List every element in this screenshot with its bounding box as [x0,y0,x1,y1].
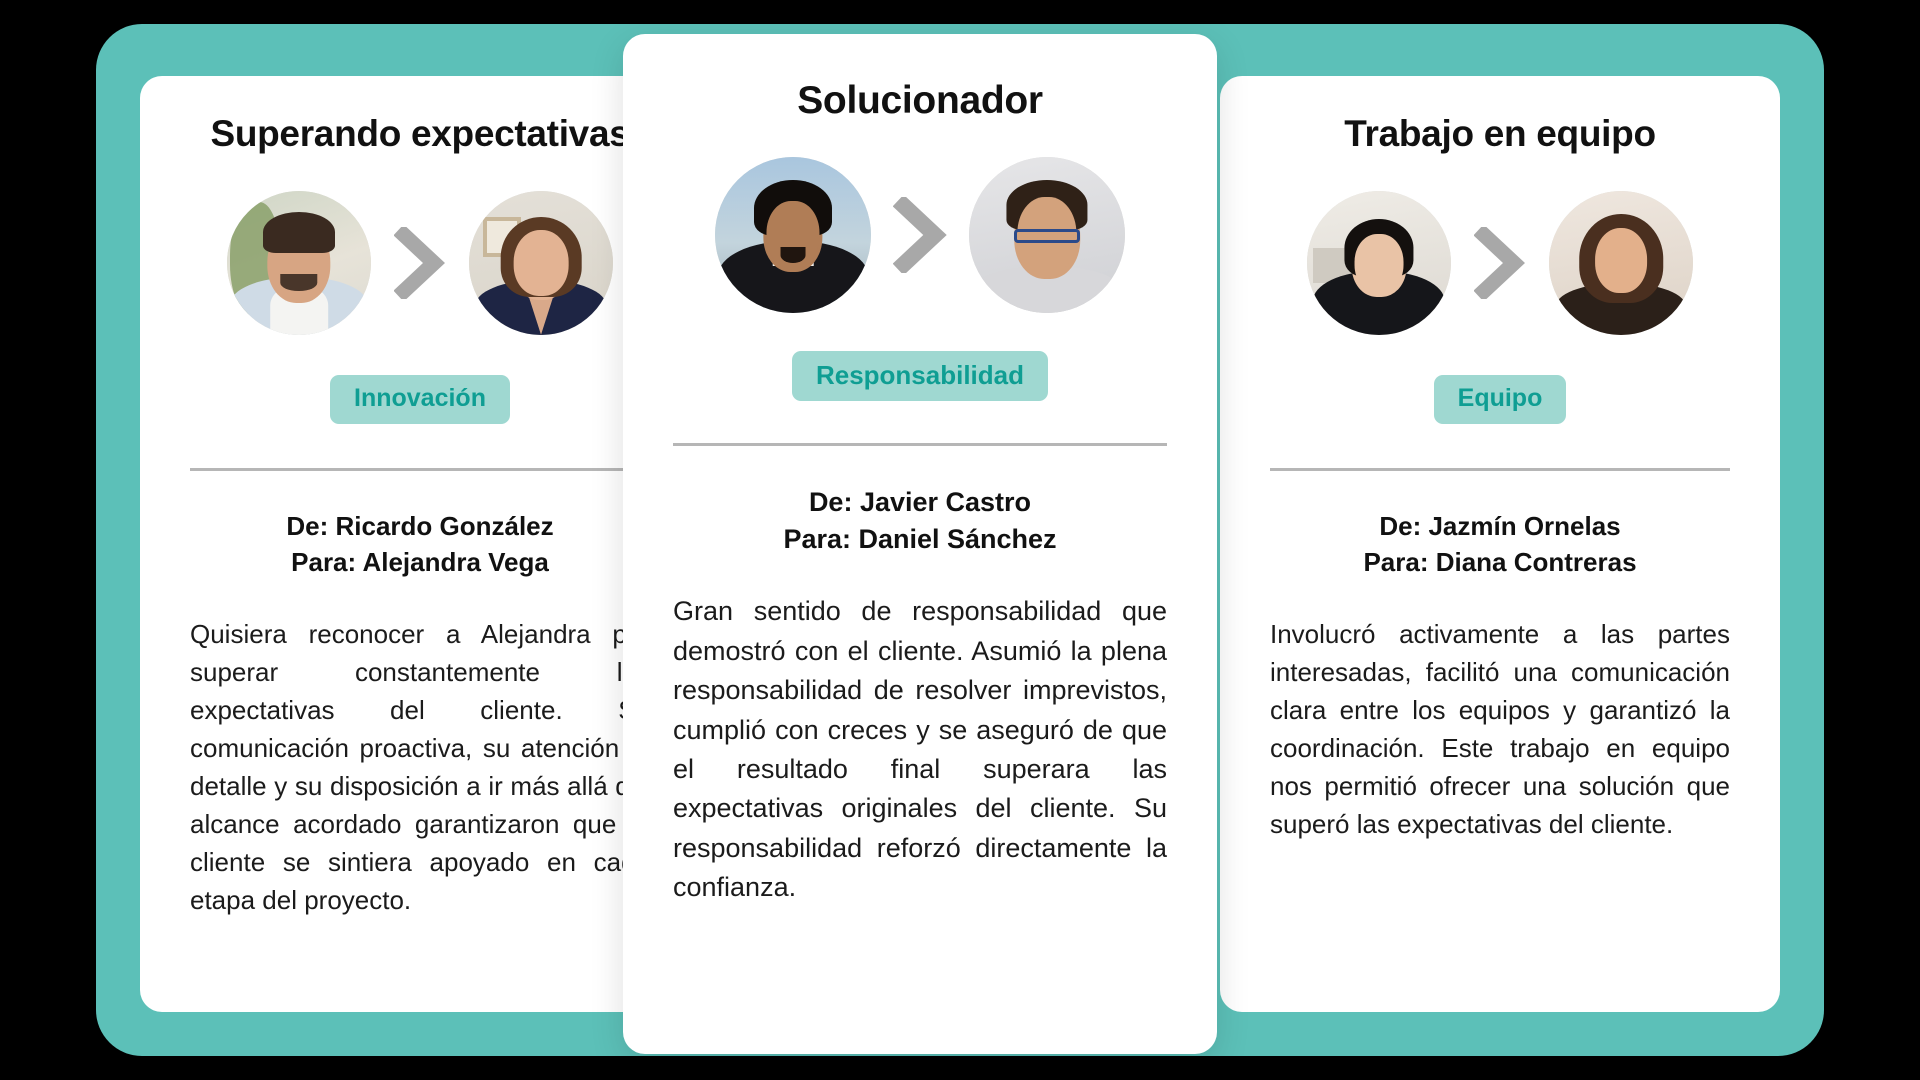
participants: De: Ricardo González Para: Alejandra Veg… [286,509,553,581]
recipient-name: Para: Daniel Sánchez [783,521,1056,558]
sender-avatar [227,191,371,335]
recognition-card-right[interactable]: Trabajo en equipo [1220,76,1780,1012]
value-badge[interactable]: Innovación [330,375,510,424]
recipient-avatar [469,191,613,335]
recognition-message: Involucró activamente a las partes inter… [1270,616,1730,844]
card-divider [190,468,650,471]
sender-name: De: Ricardo González [286,509,553,545]
chevron-right-icon [1473,225,1527,301]
recognition-message: Quisiera reconocer a Alejandra por super… [190,616,650,920]
recognition-card-left[interactable]: Superando expectativas [140,76,700,1012]
card-title: Superando expectativas [210,114,629,155]
recipient-name: Para: Alejandra Vega [286,545,553,581]
avatar-pair [1307,191,1693,335]
chevron-right-icon [393,225,447,301]
recipient-avatar [1549,191,1693,335]
recognition-message: Gran sentido de responsabilidad que demo… [673,592,1167,907]
card-title: Solucionador [797,80,1043,123]
avatar-pair [227,191,613,335]
sender-avatar [715,157,871,313]
sender-name: De: Jazmín Ornelas [1363,509,1636,545]
recipient-avatar [969,157,1125,313]
card-title: Trabajo en equipo [1344,114,1656,155]
value-badge[interactable]: Responsabilidad [792,351,1048,401]
screen-root: Superando expectativas [0,0,1920,1080]
participants: De: Jazmín Ornelas Para: Diana Contreras [1363,509,1636,581]
avatar-pair [715,157,1125,313]
recognition-cards-row: Superando expectativas [140,76,1780,1016]
sender-avatar [1307,191,1451,335]
card-divider [1270,468,1730,471]
participants: De: Javier Castro Para: Daniel Sánchez [783,484,1056,559]
chevron-right-icon [893,197,947,273]
value-badge[interactable]: Equipo [1434,375,1567,424]
recognition-card-center[interactable]: Solucionador [623,34,1217,1054]
card-divider [673,443,1167,446]
sender-name: De: Javier Castro [783,484,1056,521]
recipient-name: Para: Diana Contreras [1363,545,1636,581]
